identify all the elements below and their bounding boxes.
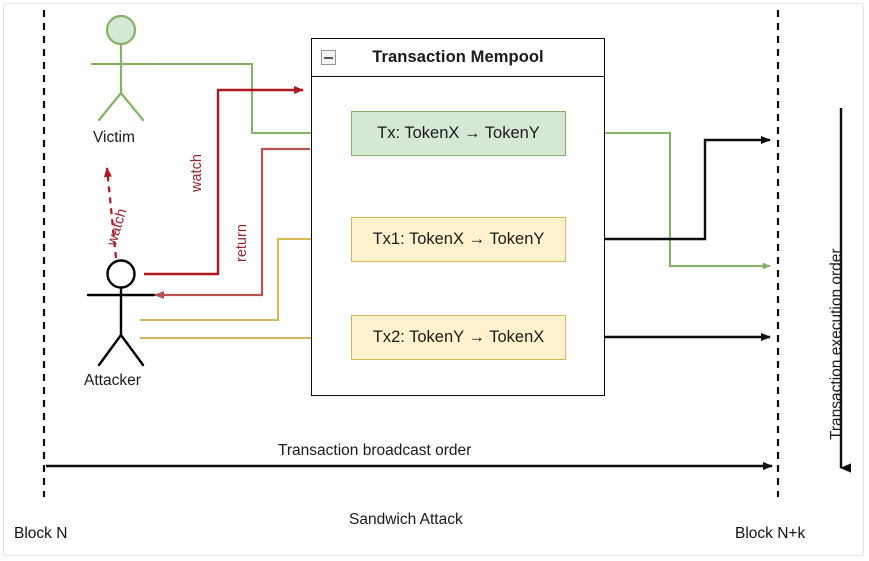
transaction-label: Tx1: TokenX → TokenY (373, 230, 545, 249)
mempool-title: Transaction Mempool (312, 48, 604, 67)
edge-label-return: return (234, 224, 250, 262)
edge-attacker-watch-mempool (144, 90, 303, 274)
actor-label-victim: Victim (93, 129, 135, 147)
transaction-box-tx[interactable]: Tx: TokenX → TokenY (351, 111, 566, 156)
mempool-header: Transaction Mempool (312, 39, 604, 77)
diagram-canvas: Transaction Mempool Tx: TokenX → TokenY … (0, 0, 869, 561)
attacker-figure (88, 261, 154, 366)
actor-label-attacker: Attacker (84, 372, 141, 390)
block-nk-label: Block N+k (735, 525, 805, 543)
transaction-mempool-container[interactable]: Transaction Mempool Tx: TokenX → TokenY … (311, 38, 605, 396)
execution-order-label: Transaction execution order (828, 248, 846, 440)
transaction-box-tx1[interactable]: Tx1: TokenX → TokenY (351, 217, 566, 262)
block-n-label: Block N (14, 525, 67, 543)
diagram-caption: Sandwich Attack (349, 511, 463, 529)
transaction-label: Tx2: TokenY → TokenX (373, 328, 545, 347)
transaction-label: Tx: TokenX → TokenY (377, 124, 540, 143)
transaction-box-tx2[interactable]: Tx2: TokenY → TokenX (351, 315, 566, 360)
edge-label-watch-mempool: watch (189, 154, 205, 192)
broadcast-order-label: Transaction broadcast order (278, 442, 471, 460)
victim-figure (92, 16, 150, 120)
